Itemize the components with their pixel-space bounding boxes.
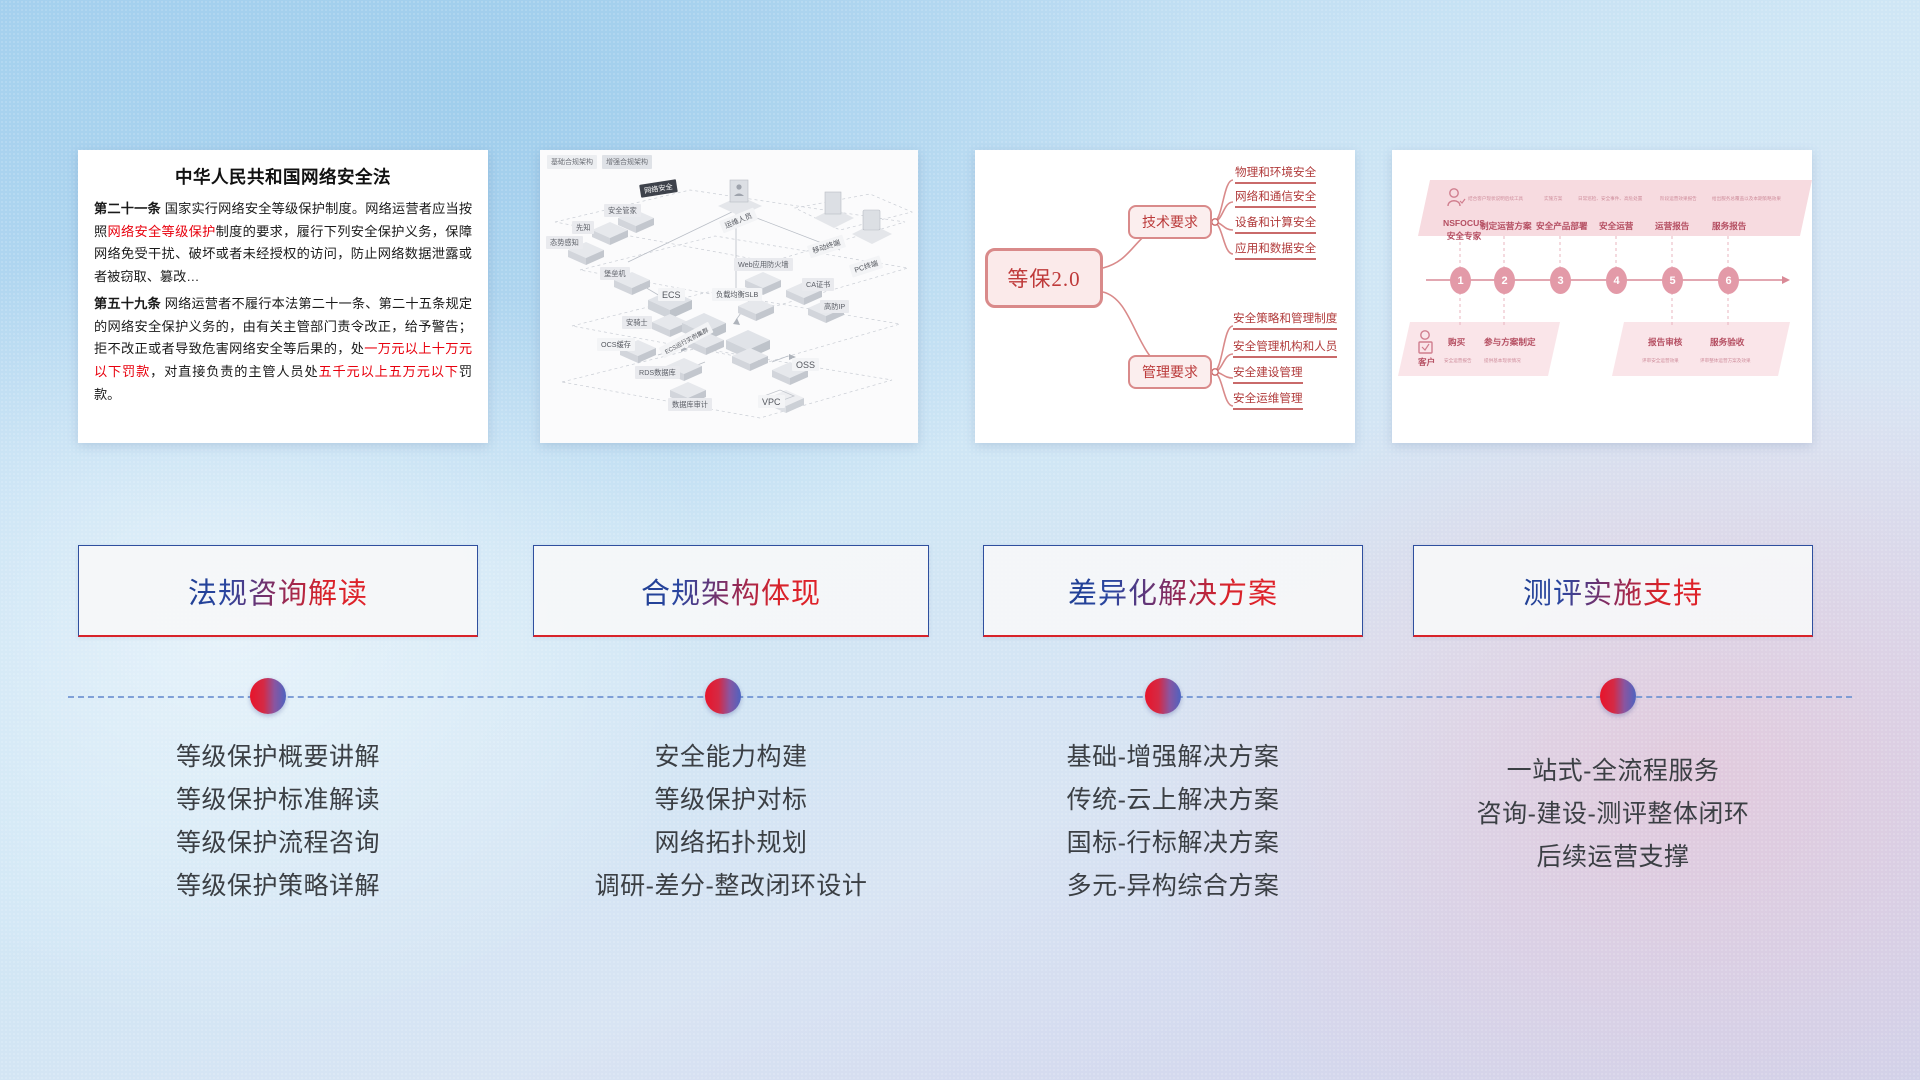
nsfocus-bottom4-sub: 评审整体运营方案及效果	[1700, 358, 1751, 364]
category-label-2: 合规架构体现	[641, 570, 821, 612]
mindmap-leaf-org-personnel: 安全管理机构和人员	[1233, 338, 1337, 358]
timeline-dot-1[interactable]	[250, 678, 286, 714]
nsfocus-node-2: 2	[1494, 267, 1515, 294]
mindmap-leaf-operation-mgmt: 安全运维管理	[1233, 390, 1303, 410]
nsfocus-bottom1-main: 购买	[1448, 336, 1465, 348]
nsfocus-node-6: 6	[1718, 267, 1739, 294]
list-item: 后续运营支撑	[1413, 836, 1813, 879]
category-box-differentiated-solution[interactable]: 差异化解决方案	[983, 545, 1363, 637]
list-item: 等级保护概要讲解	[78, 736, 478, 779]
detail-list-3: 基础-增强解决方案 传统-云上解决方案 国标-行标解决方案 多元-异构综合方案	[983, 736, 1363, 908]
mindmap-branch-management: 管理要求	[1128, 355, 1212, 389]
top-cards-row: 中华人民共和国网络安全法 第二十一条 国家实行网络安全等级保护制度。网络运营者应…	[0, 150, 1920, 450]
nsfocus-step2-sub: 实施方案	[1544, 196, 1562, 202]
nsfocus-bottom2-main: 参与方案制定	[1484, 336, 1536, 348]
card-nsfocus-process: NSFOCUS 安全专家 结合客户现状说明后续工具 制定运营方案 实施方案 安全…	[1392, 150, 1812, 443]
law-article-59: 第五十九条 网络运营者不履行本法第二十一条、第二十五条规定的网络安全保护义务的，…	[94, 293, 472, 407]
mindmap-leaf-device-compute: 设备和计算安全	[1235, 214, 1316, 234]
law-article-21: 第二十一条 国家实行网络安全等级保护制度。网络运营者应当按照网络安全等级保护制度…	[94, 198, 472, 289]
timeline-dot-2[interactable]	[705, 678, 741, 714]
mindmap-leaf-physical-env: 物理和环境安全	[1235, 164, 1316, 184]
arch-label-oss: OSS	[792, 358, 819, 371]
category-label-4: 测评实施支持	[1523, 570, 1703, 612]
nsfocus-bottom2-sub: 提供基本现状情况	[1484, 358, 1521, 364]
article-21-highlight: 网络安全等级保护	[108, 224, 216, 239]
category-label-1: 法规咨询解读	[188, 570, 368, 612]
detail-lists-row: 等级保护概要讲解 等级保护标准解读 等级保护流程咨询 等级保护策略详解 安全能力…	[0, 736, 1920, 996]
nsfocus-step2-main: 安全产品部署	[1536, 220, 1588, 232]
nsfocus-step4-main: 运营报告	[1655, 220, 1689, 232]
article-21-label: 第二十一条	[94, 201, 161, 216]
list-item: 一站式-全流程服务	[1413, 750, 1813, 793]
law-title: 中华人民共和国网络安全法	[94, 164, 472, 189]
nsfocus-bottom3-main: 报告审核	[1648, 336, 1682, 348]
arch-label-situational-awareness: 态势感知	[546, 236, 583, 249]
mindmap-root: 等保2.0	[985, 248, 1103, 308]
article-59-text-b: ，对直接负责的主管人员处	[150, 364, 318, 379]
nsfocus-node-3: 3	[1550, 267, 1571, 294]
nsfocus-node-1: 1	[1450, 267, 1471, 294]
nsfocus-canvas: NSFOCUS 安全专家 结合客户现状说明后续工具 制定运营方案 实施方案 安全…	[1392, 150, 1812, 443]
arch-label-vpc: VPC	[758, 395, 785, 408]
list-item: 等级保护策略详解	[78, 865, 478, 908]
mindmap-leaf-policy-system: 安全策略和管理制度	[1233, 310, 1337, 330]
list-item: 多元-异构综合方案	[983, 865, 1363, 908]
law-body: 中华人民共和国网络安全法 第二十一条 国家实行网络安全等级保护制度。网络运营者应…	[78, 150, 488, 416]
list-item: 国标-行标解决方案	[983, 822, 1363, 865]
timeline-dot-3[interactable]	[1145, 678, 1181, 714]
detail-list-1: 等级保护概要讲解 等级保护标准解读 等级保护流程咨询 等级保护策略详解	[78, 736, 478, 908]
arch-label-anqishi: 安骑士	[622, 316, 652, 329]
mindmap-leaf-network-comm: 网络和通信安全	[1235, 188, 1316, 208]
nsfocus-step1-sub: 结合客户现状说明后续工具	[1468, 196, 1523, 202]
arch-label-xianzhi: 先知	[572, 221, 594, 234]
list-item: 基础-增强解决方案	[983, 736, 1363, 779]
list-item: 安全能力构建	[533, 736, 929, 779]
category-box-evaluation-support[interactable]: 测评实施支持	[1413, 545, 1813, 637]
arch-label-slb: 负载均衡SLB	[712, 288, 762, 301]
nsfocus-customer-label: 客户	[1418, 356, 1435, 368]
nsfocus-bottom1-sub: 安全运营报告	[1444, 358, 1472, 364]
list-item: 等级保护流程咨询	[78, 822, 478, 865]
list-item: 等级保护标准解读	[78, 779, 478, 822]
arch-label-ecs: ECS	[658, 288, 685, 301]
mindmap-leaf-app-data: 应用和数据安全	[1235, 240, 1316, 260]
detail-list-2: 安全能力构建 等级保护对标 网络拓扑规划 调研-差分-整改闭环设计	[533, 736, 929, 908]
arch-label-ca-certificate: CA证书	[802, 278, 834, 291]
timeline	[0, 695, 1920, 699]
arch-label-security-housekeeper: 安全管家	[604, 204, 641, 217]
nsfocus-node-4: 4	[1606, 267, 1627, 294]
list-item: 网络拓扑规划	[533, 822, 929, 865]
arch-label-waf: Web应用防火墙	[734, 258, 793, 271]
nsfocus-step1-main: 制定运营方案	[1480, 220, 1532, 232]
nsfocus-step4-sub: 阶段运营效果报告	[1660, 196, 1697, 202]
category-box-regulation-consulting[interactable]: 法规咨询解读	[78, 545, 478, 637]
arch-label-bastion-host: 堡垒机	[600, 267, 630, 280]
mindmap-leaf-construction-mgmt: 安全建设管理	[1233, 364, 1303, 384]
category-box-compliance-architecture[interactable]: 合规架构体现	[533, 545, 929, 637]
nsfocus-step5-main: 服务报告	[1712, 220, 1746, 232]
nsfocus-step3-sub: 日常巡检、安全事件、高危处置	[1578, 196, 1642, 202]
list-item: 调研-差分-整改闭环设计	[533, 865, 929, 908]
timeline-dashed-line	[68, 696, 1852, 698]
nsfocus-svg	[1392, 150, 1812, 443]
category-boxes-row: 法规咨询解读 合规架构体现 差异化解决方案 测评实施支持	[0, 545, 1920, 645]
tab-enhanced-compliance[interactable]: 增强合规架构	[602, 155, 652, 169]
list-item: 传统-云上解决方案	[983, 779, 1363, 822]
arch-label-anti-ddos-ip: 高防IP	[820, 300, 849, 313]
card-law-document: 中华人民共和国网络安全法 第二十一条 国家实行网络安全等级保护制度。网络运营者应…	[78, 150, 488, 443]
article-59-label: 第五十九条	[94, 296, 161, 311]
tab-basic-compliance[interactable]: 基础合规架构	[547, 155, 597, 169]
arch-label-rds-database: RDS数据库	[635, 366, 680, 379]
nsfocus-step3-main: 安全运营	[1599, 220, 1633, 232]
article-59-highlight-2: 五千元以上五万元以下	[319, 364, 459, 379]
arch-label-ocs-cache: OCS缓存	[597, 338, 635, 351]
mindmap-canvas: 等保2.0 技术要求 管理要求 物理和环境安全 网络和通信安全 设备和计算安全 …	[975, 150, 1355, 443]
nsfocus-node-5: 5	[1662, 267, 1683, 294]
card-mindmap: 等保2.0 技术要求 管理要求 物理和环境安全 网络和通信安全 设备和计算安全 …	[975, 150, 1355, 443]
mindmap-branch-technical: 技术要求	[1128, 205, 1212, 239]
detail-list-4: 一站式-全流程服务 咨询-建设-测评整体闭环 后续运营支撑	[1413, 750, 1813, 879]
list-item: 等级保护对标	[533, 779, 929, 822]
architecture-canvas: 基础合规架构 增强合规架构 网络安全 安全管家 先知 态势感知 堡垒机 安骑士 …	[540, 150, 918, 443]
nsfocus-bottom3-sub: 评审安全运营效果	[1642, 358, 1679, 364]
nsfocus-bottom4-main: 服务验收	[1710, 336, 1744, 348]
timeline-dot-4[interactable]	[1600, 678, 1636, 714]
nsfocus-step5-sub: 给出服务总覆盖以及本期策略效果	[1712, 196, 1781, 202]
architecture-tabs: 基础合规架构 增强合规架构	[547, 155, 652, 169]
category-label-3: 差异化解决方案	[1068, 570, 1278, 612]
list-item: 咨询-建设-测评整体闭环	[1413, 793, 1813, 836]
arch-label-db-audit: 数据库审计	[668, 398, 712, 411]
card-architecture-diagram: 基础合规架构 增强合规架构 网络安全 安全管家 先知 态势感知 堡垒机 安骑士 …	[540, 150, 918, 443]
